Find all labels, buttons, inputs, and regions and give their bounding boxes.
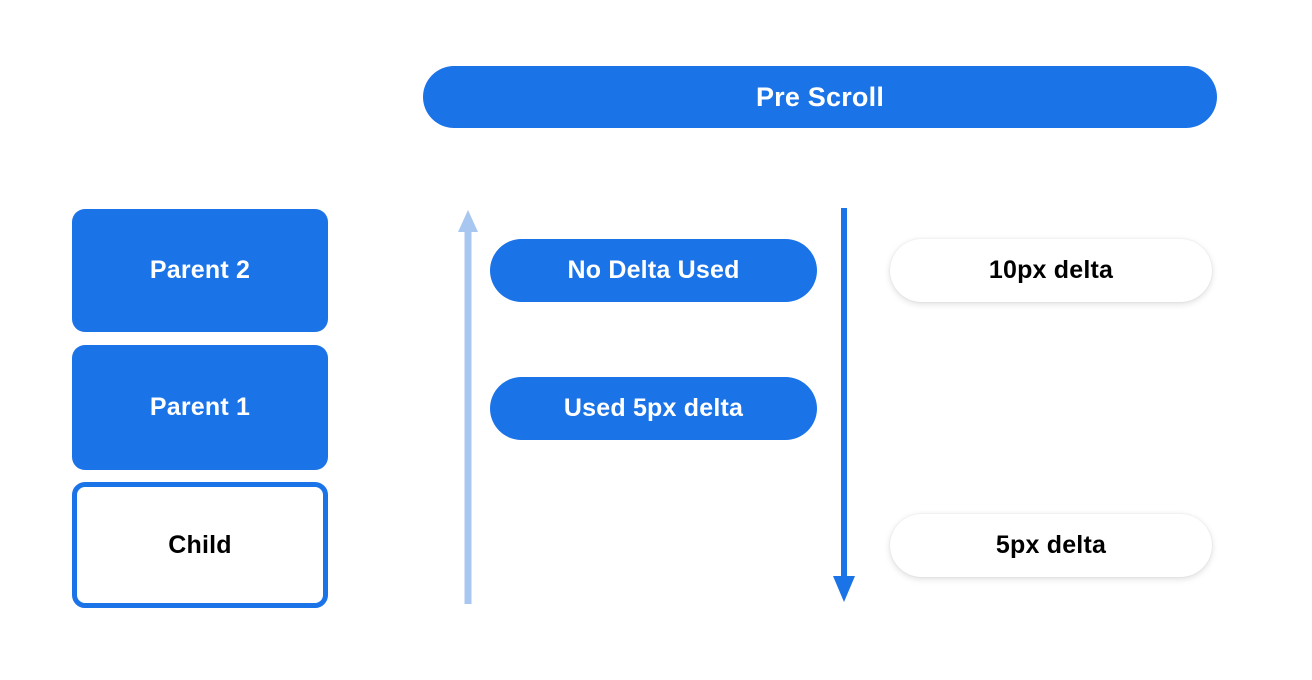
diagram-canvas: Pre Scroll Parent 2 Parent 1 Child No De…: [0, 0, 1312, 680]
node-box-parent-1-label: Parent 1: [150, 393, 250, 422]
node-box-child: Child: [72, 482, 328, 608]
pill-no-delta-used: No Delta Used: [490, 239, 817, 302]
pill-used-5px-delta: Used 5px delta: [490, 377, 817, 440]
arrow-down-icon: [832, 208, 856, 604]
pill-no-delta-used-label: No Delta Used: [567, 256, 739, 285]
arrow-up-icon: [456, 208, 480, 604]
pill-5px-delta-label: 5px delta: [996, 531, 1106, 560]
pill-10px-delta-label: 10px delta: [989, 256, 1113, 285]
pill-10px-delta: 10px delta: [890, 239, 1212, 302]
pill-used-5px-delta-label: Used 5px delta: [564, 394, 743, 423]
node-box-child-label: Child: [168, 531, 232, 560]
node-box-parent-2: Parent 2: [72, 209, 328, 332]
pre-scroll-banner-label: Pre Scroll: [756, 82, 884, 113]
node-box-parent-2-label: Parent 2: [150, 256, 250, 285]
pre-scroll-banner: Pre Scroll: [423, 66, 1217, 128]
pill-5px-delta: 5px delta: [890, 514, 1212, 577]
node-box-parent-1: Parent 1: [72, 345, 328, 470]
